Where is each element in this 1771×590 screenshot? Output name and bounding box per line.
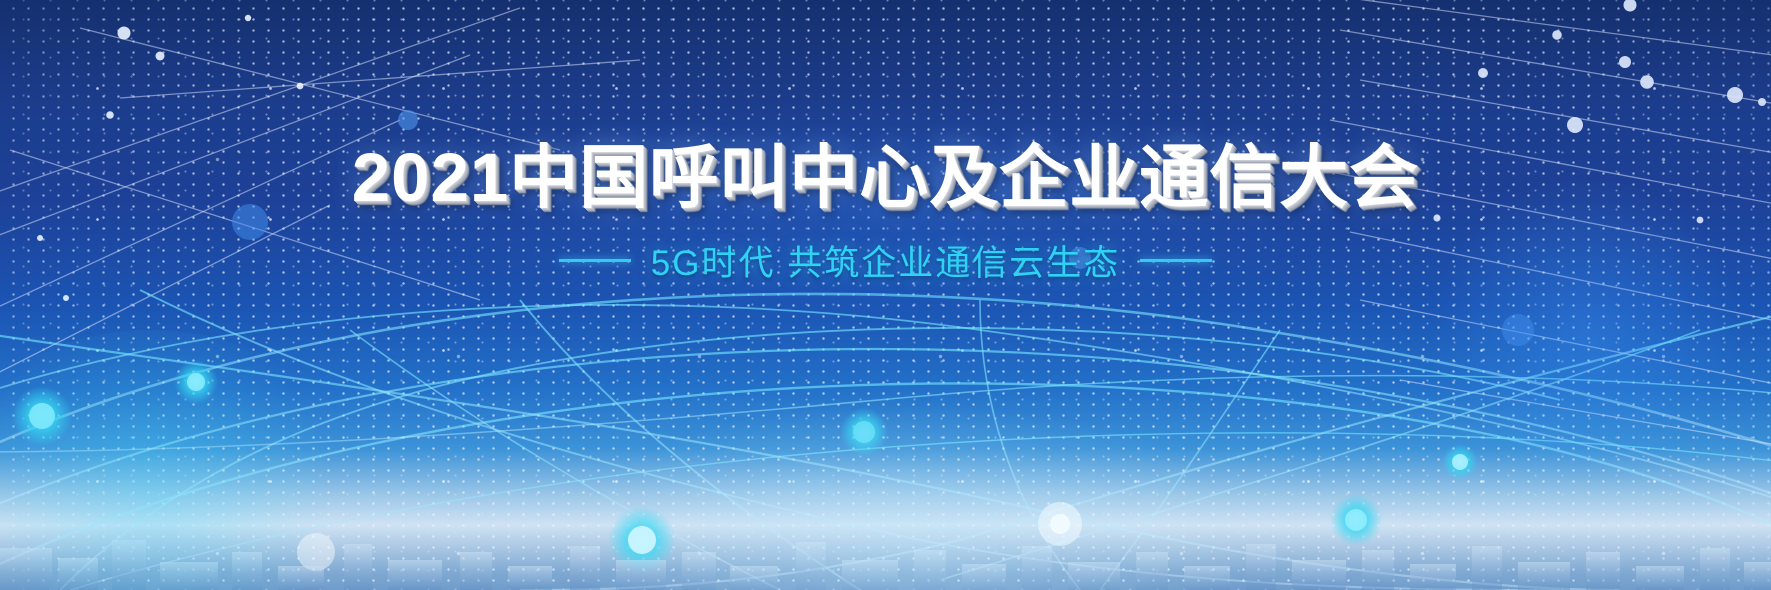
banner-text-block: 2021中国呼叫中心及企业通信大会 5G时代 共筑企业通信云生态 (0, 0, 1771, 286)
page-subtitle: 5G时代 共筑企业通信云生态 (651, 235, 1120, 286)
subtitle-row: 5G时代 共筑企业通信云生态 (0, 235, 1771, 286)
conference-banner: 2021中国呼叫中心及企业通信大会 5G时代 共筑企业通信云生态 (0, 0, 1771, 590)
right-rule (1140, 259, 1212, 262)
left-rule (559, 259, 631, 262)
page-title: 2021中国呼叫中心及企业通信大会 (0, 0, 1771, 217)
city-skyline (0, 540, 1771, 590)
